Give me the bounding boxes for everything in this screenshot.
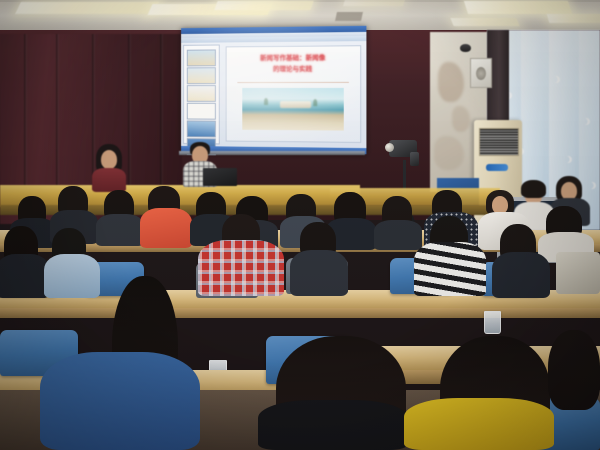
ceiling-vent [335,12,363,21]
ceiling-light-6 [450,18,519,26]
desk-row-2-edge [0,308,600,318]
slide-thumbnail-2 [187,67,216,84]
slide-photo-boat [280,101,310,109]
water-glass-2 [484,311,501,334]
slide-thumbnail-4 [187,103,216,120]
ceiling-light-4 [343,0,405,6]
camera-viewfinder [410,152,419,166]
slide-thumbnail-1 [187,49,216,66]
lecture-hall-photo: 新闻写作基础：新闻像 的理论与实践 [0,0,600,450]
camera-lens-icon [385,143,394,152]
projection-screen: 新闻写作基础：新闻像 的理论与实践 [181,26,366,154]
ac-brand-badge [486,164,508,171]
ceiling-light-7 [547,14,600,23]
ceiling-light-3 [214,1,313,10]
ceiling-light-1 [15,2,159,14]
ppt-thumbnail-pane [183,44,220,144]
handbag [556,252,600,294]
slide-divider [237,82,349,83]
ppt-workspace: 新闻写作基础：新闻像 的理论与实践 [181,41,366,148]
cctv-dome-camera-icon [460,44,471,52]
slide-title-line-1: 新闻写作基础：新闻像 [234,54,352,63]
speaker-cone-icon [476,67,486,80]
ppt-current-slide: 新闻写作基础：新闻像 的理论与实践 [226,45,362,143]
slide-title-line-2: 的理论与实践 [234,65,352,74]
ceiling-light-5 [464,1,572,14]
slide-thumbnail-5 [187,120,216,137]
slide-beach-photo [242,88,344,130]
presenter-laptop [203,168,237,186]
ac-grille [479,128,519,156]
slide-thumbnail-3 [187,85,216,102]
wall-speaker [470,58,492,88]
